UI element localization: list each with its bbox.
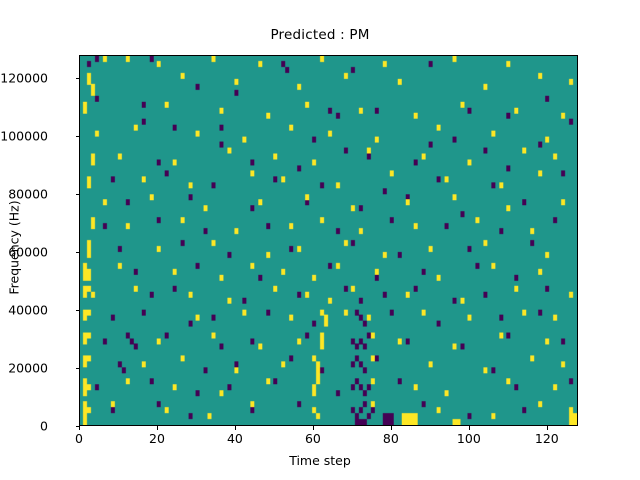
x-tick-label: 20: [149, 431, 165, 446]
heatmap-grid: [80, 56, 577, 425]
x-tick-label: 80: [383, 431, 399, 446]
y-tick-label: 100000: [0, 129, 48, 144]
figure-canvas: Predicted : PM Frequency (Hz) Time step …: [0, 0, 640, 480]
chart-title: Predicted : PM: [0, 27, 640, 43]
x-tick-mark: [79, 426, 80, 430]
y-tick-label: 0: [40, 419, 48, 434]
x-tick-label: 120: [535, 431, 559, 446]
x-tick-mark: [157, 426, 158, 430]
x-tick-mark: [547, 426, 548, 430]
y-tick-label: 80000: [8, 187, 48, 202]
x-tick-label: 40: [227, 431, 243, 446]
x-tick-label: 100: [457, 431, 481, 446]
x-axis-label: Time step: [0, 453, 640, 468]
y-tick-label: 40000: [8, 303, 48, 318]
x-tick-mark: [469, 426, 470, 430]
x-tick-mark: [391, 426, 392, 430]
y-tick-label: 120000: [0, 71, 48, 86]
heatmap-plot-area[interactable]: [79, 55, 578, 426]
x-tick-label: 0: [75, 431, 83, 446]
y-tick-label: 20000: [8, 361, 48, 376]
y-tick-label: 60000: [8, 245, 48, 260]
x-tick-label: 60: [305, 431, 321, 446]
x-tick-mark: [313, 426, 314, 430]
x-tick-mark: [235, 426, 236, 430]
